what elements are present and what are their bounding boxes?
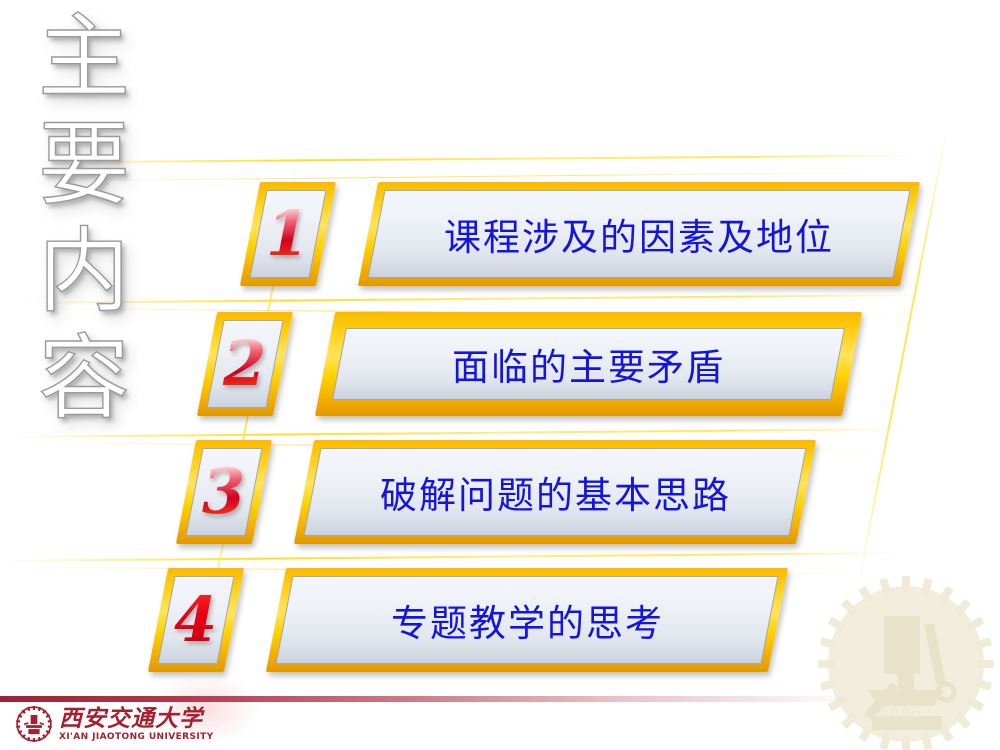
university-seal-icon: [16, 706, 52, 742]
agenda-label-panel-1: 课程涉及的因素及地位: [367, 190, 910, 278]
logo-text-block: 西安交通大学 XI'AN JIAOTONG UNIVERSITY: [59, 707, 214, 742]
agenda-number-3: 3: [202, 461, 245, 523]
agenda-label-panel-2: 面临的主要矛盾: [332, 328, 845, 400]
agenda-label-panel-3: 破解问题的基本思路: [303, 448, 806, 536]
agenda-label-3: 破解问题的基本思路: [380, 465, 731, 519]
agenda-label-frame-4[interactable]: 专题教学的思考: [266, 568, 788, 672]
agenda-label-1: 课程涉及的因素及地位: [444, 207, 834, 261]
university-logo: 西安交通大学 XI'AN JIAOTONG UNIVERSITY: [16, 706, 214, 742]
agenda-number-badge-1: 1: [240, 182, 336, 286]
agenda-number-badge-2: 2: [197, 312, 293, 416]
agenda-label-frame-1[interactable]: 课程涉及的因素及地位: [358, 182, 920, 286]
agenda-item-2[interactable]: 2 面临的主要矛盾: [207, 312, 852, 416]
agenda-number-panel-1: 1: [249, 190, 326, 278]
agenda-item-1[interactable]: 1 课程涉及的因素及地位: [250, 182, 910, 286]
agenda-item-3[interactable]: 3 破解问题的基本思路: [186, 440, 806, 544]
agenda-number-2: 2: [223, 333, 266, 395]
agenda-number-panel-4: 4: [157, 576, 234, 664]
agenda-label-frame-2[interactable]: 面临的主要矛盾: [315, 312, 862, 416]
agenda-number-panel-3: 3: [185, 448, 262, 536]
agenda-label-4: 专题教学的思考: [391, 593, 664, 647]
agenda-label-2: 面临的主要矛盾: [452, 337, 725, 391]
agenda-number-badge-3: 3: [176, 440, 272, 544]
slide-canvas: 主 要 内 容 1 课程涉及的因素及地位 2: [0, 0, 1000, 750]
agenda-label-frame-3[interactable]: 破解问题的基本思路: [294, 440, 816, 544]
logo-name-cn: 西安交通大学: [59, 707, 214, 730]
agenda-label-panel-4: 专题教学的思考: [275, 576, 778, 664]
logo-name-en: XI'AN JIAOTONG UNIVERSITY: [59, 733, 214, 742]
agenda-number-4: 4: [174, 589, 217, 651]
agenda-list: 1 课程涉及的因素及地位 2 面临的主要矛盾: [0, 0, 1000, 750]
agenda-number-badge-4: 4: [148, 568, 244, 672]
agenda-item-4[interactable]: 4 专题教学的思考: [158, 568, 778, 672]
footer-divider: [0, 696, 1000, 702]
agenda-number-1: 1: [266, 203, 309, 265]
agenda-number-panel-2: 2: [206, 320, 283, 408]
